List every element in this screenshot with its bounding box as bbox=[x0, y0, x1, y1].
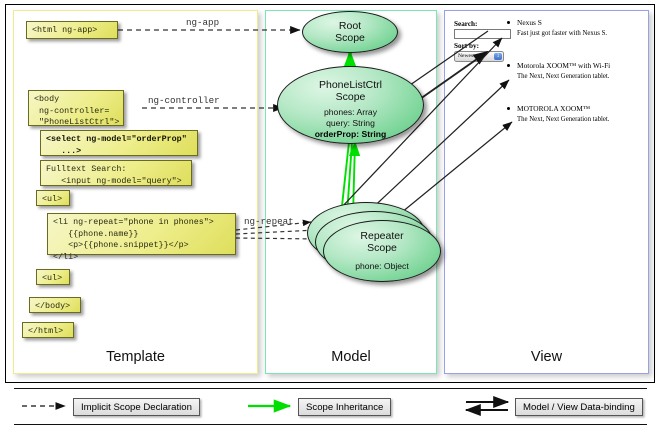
scope-repeater[interactable]: RepeaterScope phone: Object bbox=[323, 220, 441, 282]
edge-label-ng-app: ng-app bbox=[186, 17, 219, 28]
scope-repeater-props: phone: Object bbox=[324, 261, 440, 272]
scope-diagram-canvas: Template <html ng-app> <body ng-controll… bbox=[0, 0, 661, 425]
edge-label-ng-repeat: ng-repeat bbox=[244, 216, 294, 227]
code-box-ul-open[interactable]: <ul> bbox=[36, 190, 70, 206]
scope-repeater-label: RepeaterScope bbox=[324, 230, 440, 255]
code-box-body-open[interactable]: <body ng-controller= "PhoneListCtrl"> bbox=[28, 90, 124, 126]
scope-phonelistctrl[interactable]: PhoneListCtrlScope phones: Arrayquery: S… bbox=[277, 66, 424, 144]
code-box-ng-repeat-li[interactable]: <li ng-repeat="phone in phones"> {{phone… bbox=[47, 213, 236, 255]
code-box-ul-close[interactable]: <ul> bbox=[36, 269, 70, 285]
scope-root[interactable]: RootScope bbox=[302, 11, 398, 53]
scope-root-label: RootScope bbox=[303, 20, 397, 45]
code-box-html-open[interactable]: <html ng-app> bbox=[26, 21, 118, 39]
code-box-body-close[interactable]: </body> bbox=[29, 297, 81, 313]
scope-phonelistctrl-label: PhoneListCtrlScope bbox=[278, 79, 423, 104]
code-box-html-close[interactable]: </html> bbox=[22, 322, 74, 338]
code-box-select[interactable]: <select ng-model="orderProp" ...> bbox=[40, 130, 198, 156]
scope-phonelistctrl-props: phones: Arrayquery: StringorderProp: Str… bbox=[278, 107, 423, 141]
edge-label-ng-controller: ng-controller bbox=[148, 95, 220, 106]
code-box-fulltext-search[interactable]: Fulltext Search: <input ng-model="query"… bbox=[40, 160, 192, 186]
